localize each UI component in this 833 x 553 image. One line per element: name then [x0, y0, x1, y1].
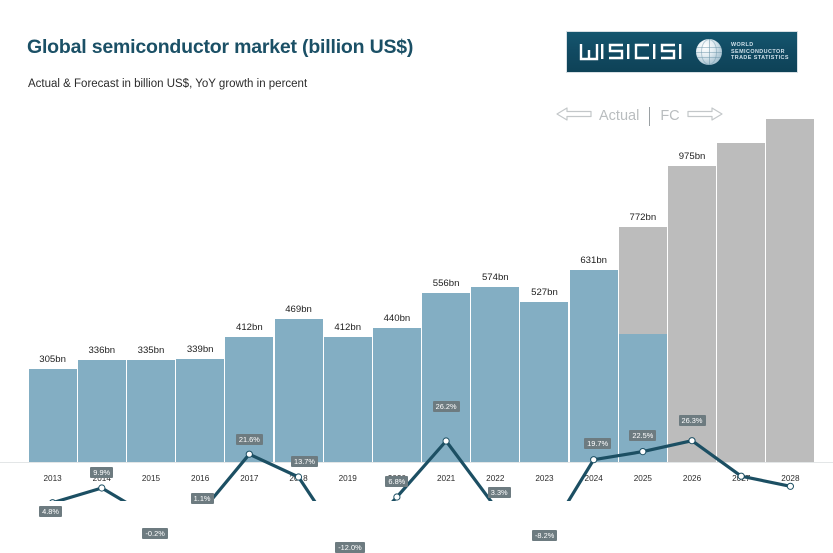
growth-label-2017: 21.6%: [236, 434, 263, 445]
growth-label-2021: 26.2%: [433, 401, 460, 412]
growth-point-2014: [99, 485, 105, 491]
logo-tagline-line2: SEMICONDUCTOR: [731, 49, 789, 56]
growth-label-2013: 4.8%: [39, 506, 62, 517]
growth-label-2019: -12.0%: [335, 542, 364, 553]
growth-point-2020: [394, 494, 400, 500]
page-title: Global semiconductor market (billion US$…: [27, 36, 413, 59]
growth-label-2024: 19.7%: [584, 438, 611, 449]
globe-icon: [696, 39, 722, 65]
growth-line-path: [53, 441, 791, 501]
logo-tagline: WORLD SEMICONDUCTOR TRADE STATISTICS: [731, 42, 789, 62]
growth-label-2015: -0.2%: [142, 528, 167, 539]
yoy-growth-line-series: [0, 100, 833, 501]
growth-point-2017: [246, 451, 252, 457]
growth-point-2024: [591, 457, 597, 463]
growth-label-2020: 6.8%: [385, 476, 408, 487]
logo-tagline-line3: TRADE STATISTICS: [731, 55, 789, 62]
growth-point-2028: [787, 483, 793, 489]
chart-header: Global semiconductor market (billion US$…: [0, 0, 833, 100]
growth-point-2018: [295, 474, 301, 480]
wsts-wordmark-icon: [579, 42, 687, 62]
growth-point-2025: [640, 449, 646, 455]
growth-label-2023: -8.2%: [532, 530, 557, 541]
page-subtitle: Actual & Forecast in billion US$, YoY gr…: [28, 78, 307, 90]
growth-label-2018: 13.7%: [291, 456, 318, 467]
growth-label-2026: 26.3%: [679, 415, 706, 426]
wsts-logo: WORLD SEMICONDUCTOR TRADE STATISTICS: [566, 31, 798, 73]
growth-point-2027: [738, 473, 744, 479]
logo-tagline-line1: WORLD: [731, 42, 789, 49]
growth-label-2022: 3.3%: [488, 487, 511, 498]
growth-label-2016: 1.1%: [191, 493, 214, 504]
chart-plot-area: 305bn336bn335bn339bn412bn469bn412bn440bn…: [0, 100, 833, 501]
growth-label-2025: 22.5%: [629, 430, 656, 441]
growth-point-2026: [689, 438, 695, 444]
growth-label-2014: 9.9%: [90, 467, 113, 478]
growth-point-2021: [443, 438, 449, 444]
